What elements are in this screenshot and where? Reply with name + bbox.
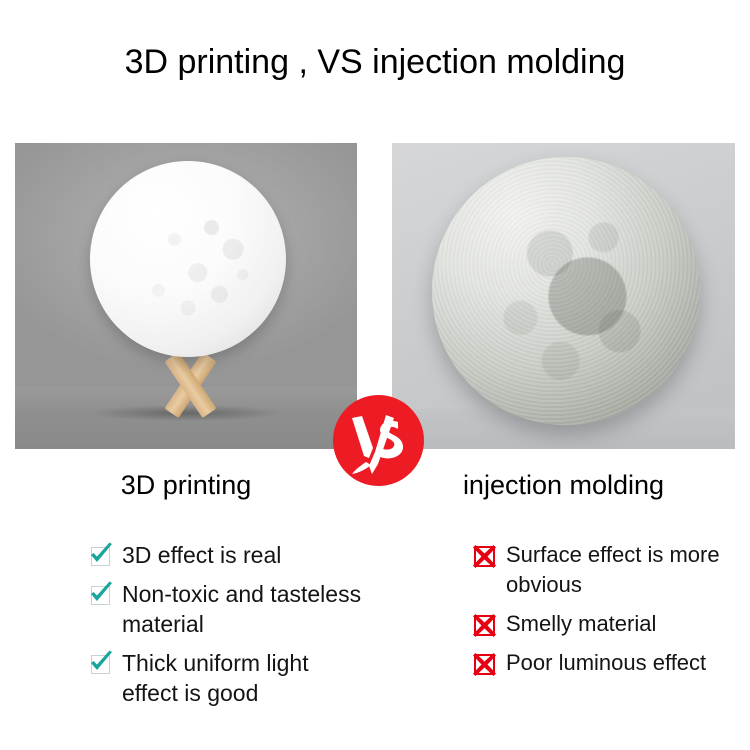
check-icon — [88, 583, 114, 609]
product-photo-injection-molding — [392, 143, 735, 449]
vs-badge — [333, 395, 424, 486]
feature-label: Poor luminous effect — [506, 648, 706, 678]
list-item: Surface effect is more obvious — [472, 540, 744, 600]
caption-injection-molding: injection molding — [392, 465, 735, 505]
feature-label: 3D effect is real — [122, 540, 281, 570]
feature-list-injection-molding: Surface effect is more obvious Smelly ma… — [472, 540, 744, 687]
moon-lamp-white — [90, 161, 286, 357]
feature-label: Smelly material — [506, 609, 656, 639]
page-title: 3D printing , VS injection molding — [0, 40, 750, 84]
list-item: Thick uniform light effect is good — [88, 648, 368, 708]
comparison-panels — [0, 143, 750, 449]
cross-icon — [472, 544, 498, 570]
feature-lists: 3D effect is real Non-toxic and tasteles… — [0, 540, 750, 750]
feature-label: Surface effect is more obvious — [506, 540, 744, 600]
check-icon — [88, 544, 114, 570]
product-photo-3d-printing — [15, 143, 357, 449]
cross-icon — [472, 652, 498, 678]
list-item: Smelly material — [472, 609, 744, 639]
list-item: 3D effect is real — [88, 540, 368, 570]
check-icon — [88, 652, 114, 678]
list-item: Non-toxic and tasteless material — [88, 579, 368, 639]
feature-label: Non-toxic and tasteless material — [122, 579, 368, 639]
caption-3d-printing: 3D printing — [15, 465, 357, 505]
feature-list-3d-printing: 3D effect is real Non-toxic and tasteles… — [88, 540, 368, 717]
feature-label: Thick uniform light effect is good — [122, 648, 368, 708]
list-item: Poor luminous effect — [472, 648, 744, 678]
wooden-stand — [130, 351, 250, 413]
cross-icon — [472, 613, 498, 639]
moon-sphere-gray — [432, 157, 700, 425]
